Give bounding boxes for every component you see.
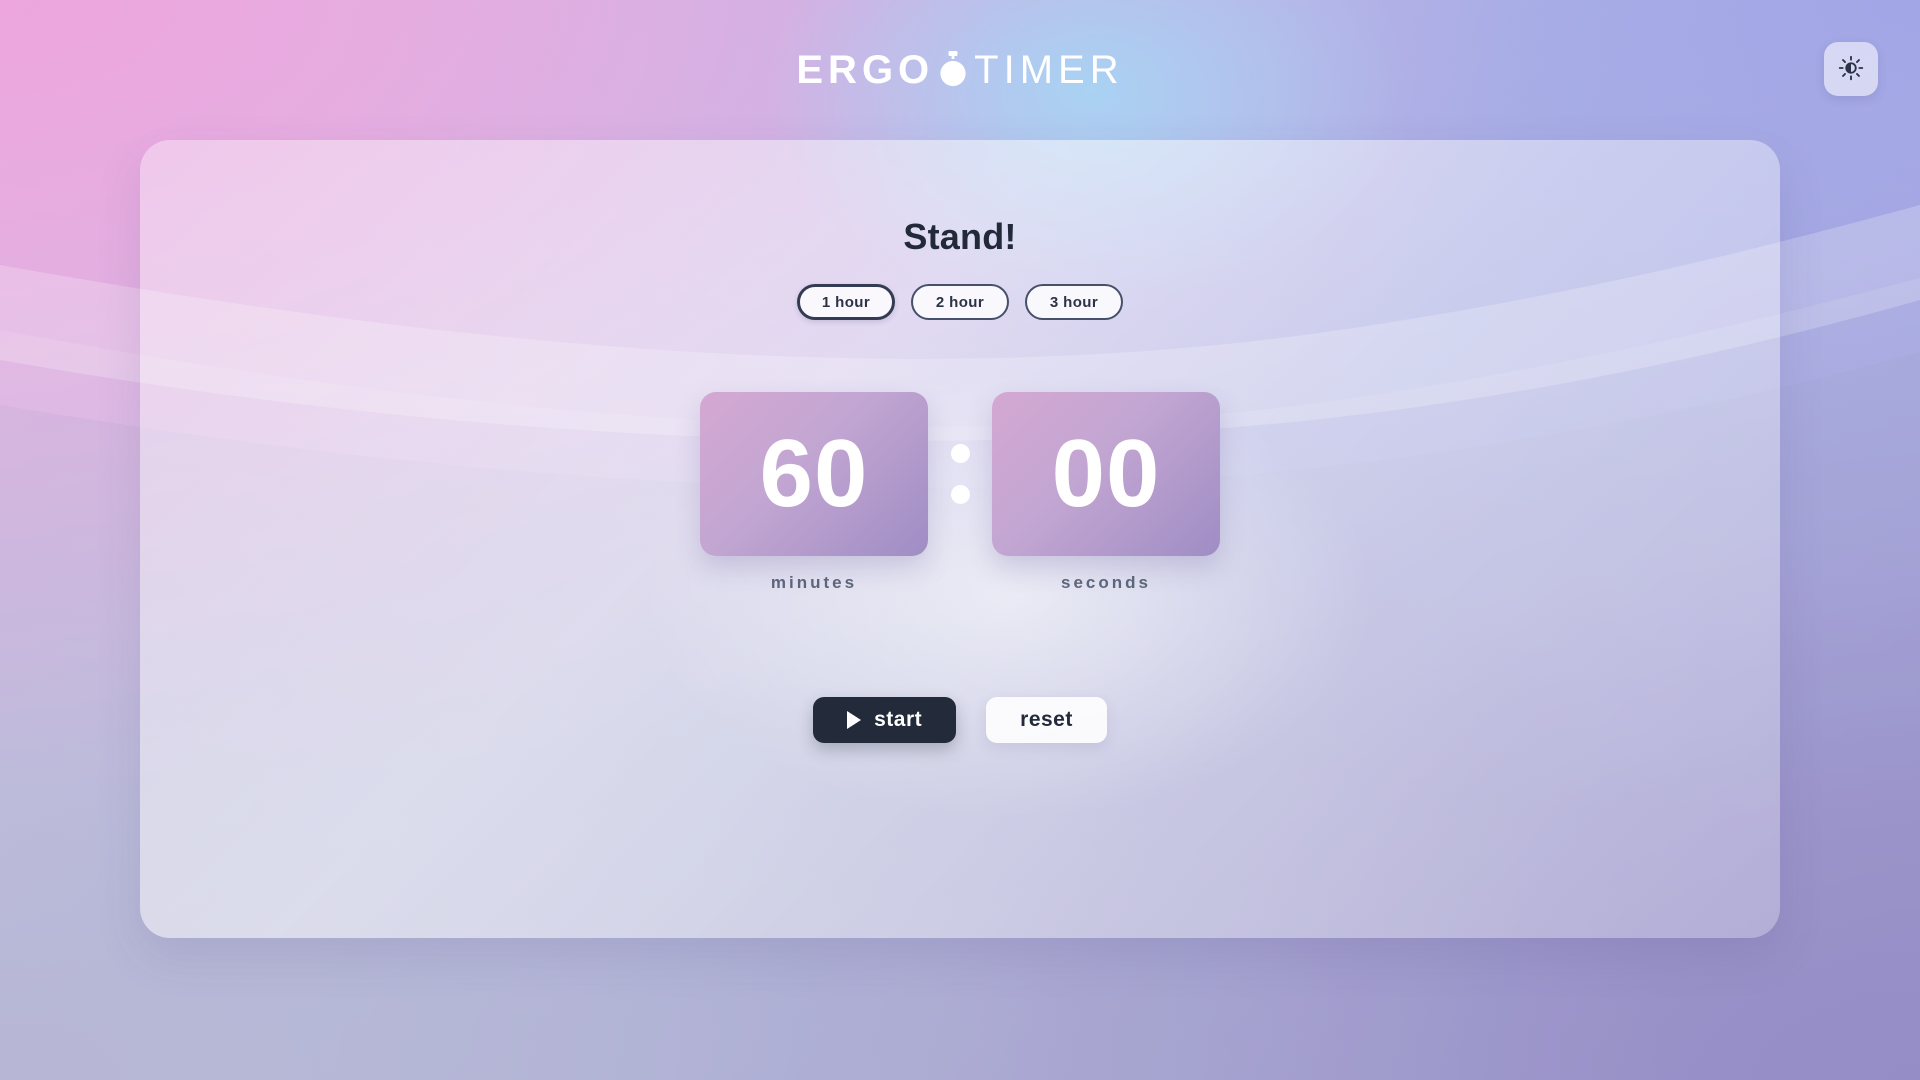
stopwatch-icon [936,50,970,90]
app-header: ERGO TIMER [0,0,1920,140]
seconds-value: 00 [1052,426,1161,522]
card-content: Stand! 1 hour 2 hour 3 hour 60 minutes [140,140,1780,938]
start-button-label: start [874,708,922,732]
colon-dot-bottom [951,485,970,504]
logo-text-light: TIMER [974,48,1123,93]
minutes-card[interactable]: 60 [700,392,928,556]
preset-button-2-hour[interactable]: 2 hour [911,284,1009,320]
reset-button[interactable]: reset [986,697,1107,743]
play-icon [847,711,861,729]
action-buttons: start reset [813,697,1107,743]
sun-half-icon [1838,55,1864,84]
timer-display: 60 minutes 00 seconds [700,392,1220,593]
theme-toggle-button[interactable] [1824,42,1878,96]
minutes-group: 60 minutes [700,392,928,593]
seconds-card[interactable]: 00 [992,392,1220,556]
preset-button-3-hour[interactable]: 3 hour [1025,284,1123,320]
colon-dot-top [951,444,970,463]
preset-button-1-hour[interactable]: 1 hour [797,284,895,320]
app-logo: ERGO TIMER [796,48,1123,93]
seconds-label: seconds [1061,573,1151,593]
preset-buttons: 1 hour 2 hour 3 hour [797,284,1123,320]
status-title: Stand! [903,216,1016,258]
seconds-group: 00 seconds [992,392,1220,593]
minutes-value: 60 [760,426,869,522]
colon-separator [928,392,992,556]
start-button[interactable]: start [813,697,956,743]
app-root: ERGO TIMER [0,0,1920,1080]
minutes-label: minutes [771,573,857,593]
logo-text-bold: ERGO [796,48,934,93]
timer-card: Stand! 1 hour 2 hour 3 hour 60 minutes [140,140,1780,938]
